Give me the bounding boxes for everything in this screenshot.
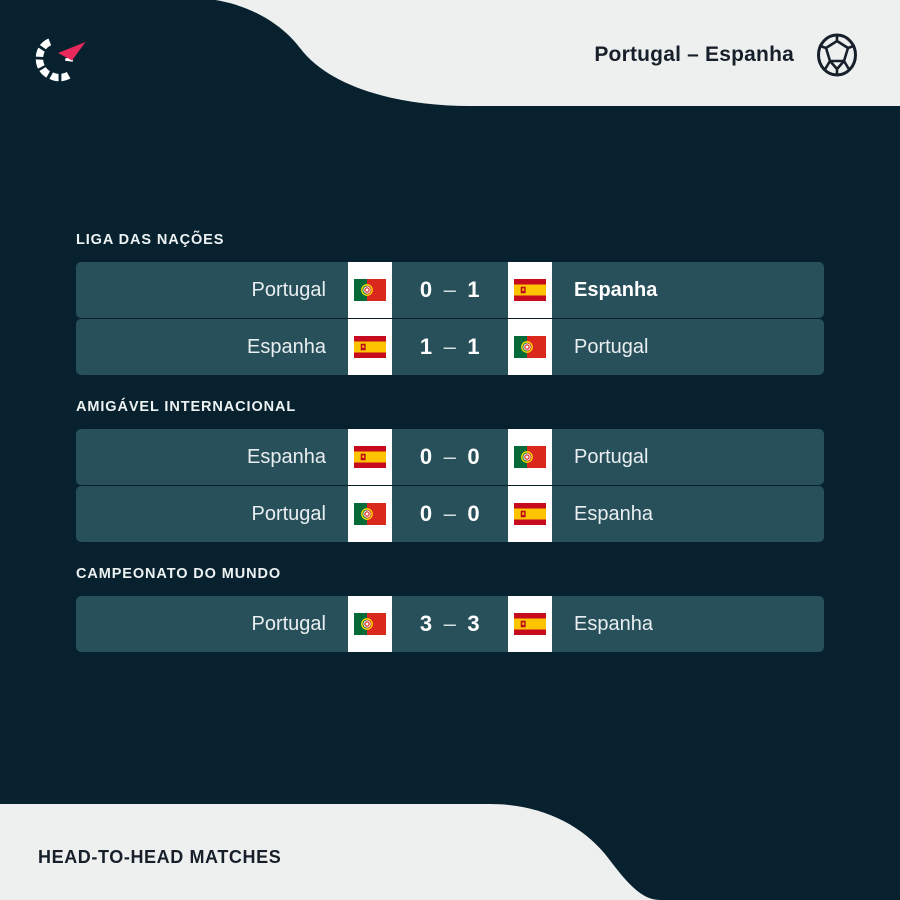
competition-section: Campeonato do MundoPortugal3–3Espanha bbox=[76, 566, 824, 652]
flag-portugal bbox=[514, 336, 546, 358]
home-score: 1 bbox=[420, 334, 433, 360]
away-team-flag bbox=[508, 486, 552, 542]
match-row[interactable]: Portugal0–0Espanha bbox=[76, 486, 824, 542]
page-title: Portugal – Espanha bbox=[594, 43, 794, 67]
home-team-flag bbox=[348, 262, 392, 318]
flag-portugal bbox=[354, 613, 386, 635]
away-team-name: Portugal bbox=[552, 319, 824, 375]
home-score: 3 bbox=[420, 611, 433, 637]
home-team-name: Espanha bbox=[76, 429, 348, 485]
flag-spain bbox=[354, 446, 386, 468]
match-score: 1–1 bbox=[392, 319, 508, 375]
match-score: 0–0 bbox=[392, 429, 508, 485]
home-team-name: Portugal bbox=[76, 262, 348, 318]
score-separator: – bbox=[444, 611, 457, 637]
home-team-flag bbox=[348, 429, 392, 485]
match-row[interactable]: Espanha1–1Portugal bbox=[76, 319, 824, 375]
head-to-head-card: Portugal – Espanha Liga das NaçõesPortug… bbox=[0, 0, 900, 900]
footer-label: Head-to-head matches bbox=[38, 847, 281, 868]
flag-portugal bbox=[354, 503, 386, 525]
competition-section: Amigável InternacionalEspanha0–0Portugal… bbox=[76, 399, 824, 542]
home-team-name: Portugal bbox=[76, 486, 348, 542]
flashscore-logo[interactable] bbox=[28, 27, 90, 89]
away-score: 0 bbox=[467, 444, 480, 470]
away-score: 0 bbox=[467, 501, 480, 527]
away-team-flag bbox=[508, 596, 552, 652]
home-team-flag bbox=[348, 596, 392, 652]
match-score: 0–0 bbox=[392, 486, 508, 542]
away-team-flag bbox=[508, 429, 552, 485]
away-team-name: Portugal bbox=[552, 429, 824, 485]
competition-title: Campeonato do Mundo bbox=[76, 566, 824, 582]
home-team-flag bbox=[348, 319, 392, 375]
competition-section: Liga das NaçõesPortugal0–1EspanhaEspanha… bbox=[76, 232, 824, 375]
score-separator: – bbox=[444, 444, 457, 470]
away-team-name: Espanha bbox=[552, 596, 824, 652]
score-separator: – bbox=[444, 277, 457, 303]
away-team-name: Espanha bbox=[552, 262, 824, 318]
away-score: 3 bbox=[467, 611, 480, 637]
footer: Head-to-head matches bbox=[0, 790, 900, 900]
flag-portugal bbox=[514, 446, 546, 468]
match-row[interactable]: Portugal0–1Espanha bbox=[76, 262, 824, 318]
flag-portugal bbox=[354, 279, 386, 301]
match-row[interactable]: Portugal3–3Espanha bbox=[76, 596, 824, 652]
flag-spain bbox=[514, 279, 546, 301]
footer-background-shape bbox=[0, 790, 900, 900]
home-team-flag bbox=[348, 486, 392, 542]
flag-spain bbox=[354, 336, 386, 358]
away-team-flag bbox=[508, 319, 552, 375]
away-team-name: Espanha bbox=[552, 486, 824, 542]
away-score: 1 bbox=[467, 334, 480, 360]
match-score: 0–1 bbox=[392, 262, 508, 318]
home-team-name: Portugal bbox=[76, 596, 348, 652]
competition-title: Liga das Nações bbox=[76, 232, 824, 248]
home-team-name: Espanha bbox=[76, 319, 348, 375]
away-team-flag bbox=[508, 262, 552, 318]
home-score: 0 bbox=[420, 501, 433, 527]
match-score: 3–3 bbox=[392, 596, 508, 652]
home-score: 0 bbox=[420, 277, 433, 303]
match-list: Liga das NaçõesPortugal0–1EspanhaEspanha… bbox=[0, 120, 900, 652]
header-content: Portugal – Espanha bbox=[594, 0, 900, 110]
competition-title: Amigável Internacional bbox=[76, 399, 824, 415]
header: Portugal – Espanha bbox=[0, 0, 900, 120]
score-separator: – bbox=[444, 501, 457, 527]
home-score: 0 bbox=[420, 444, 433, 470]
score-separator: – bbox=[444, 334, 457, 360]
flag-spain bbox=[514, 613, 546, 635]
soccer-ball-icon bbox=[816, 33, 858, 77]
match-row[interactable]: Espanha0–0Portugal bbox=[76, 429, 824, 485]
flag-spain bbox=[514, 503, 546, 525]
away-score: 1 bbox=[467, 277, 480, 303]
